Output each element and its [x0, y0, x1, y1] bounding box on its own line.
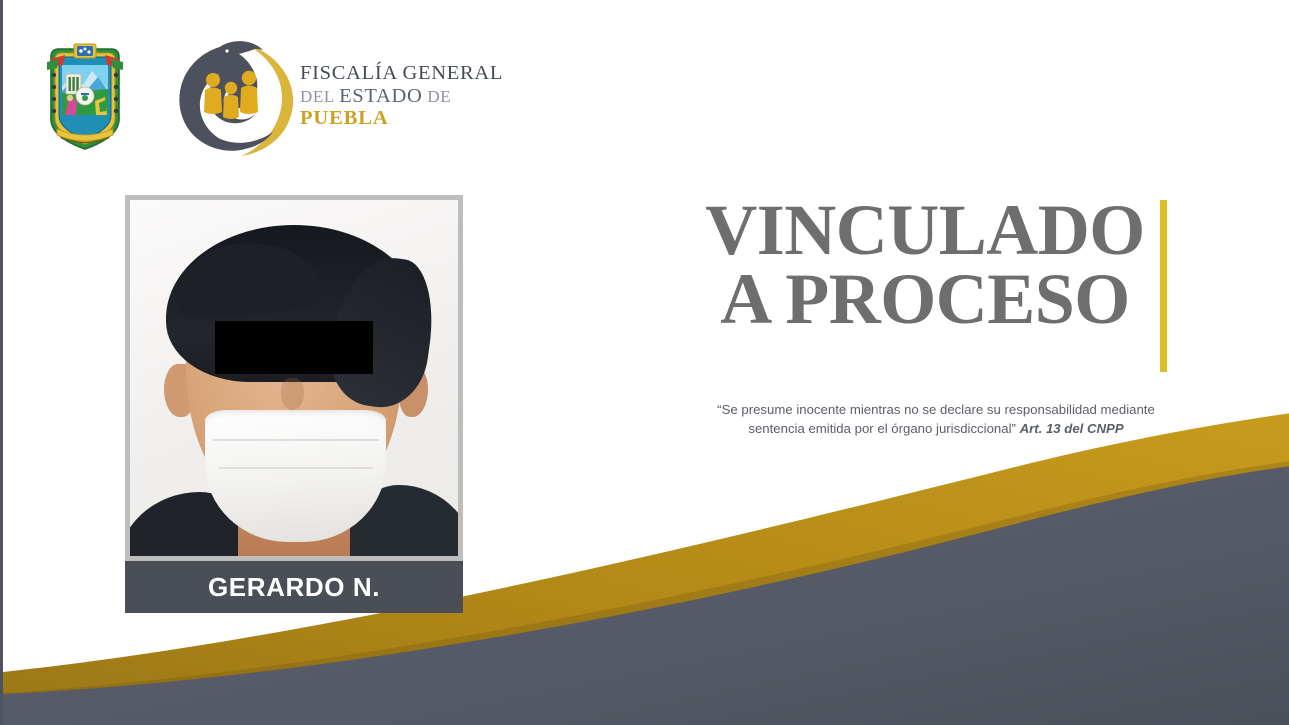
subject-name-label: GERARDO N. [208, 572, 380, 603]
headline-block: VINCULADO A PROCESO [693, 196, 1173, 334]
wordmark-de: DE [427, 87, 451, 106]
headline-line-1: VINCULADO [693, 196, 1157, 265]
subject-photo-frame [125, 195, 463, 561]
wordmark-line-2: DEL ESTADO DE [300, 86, 503, 107]
disclaimer-citation: Art. 13 del CNPP [1020, 421, 1124, 436]
puebla-coat-of-arms-icon [43, 41, 127, 155]
institution-wordmark: FISCALÍA GENERAL DEL ESTADO DE PUEBLA [300, 63, 503, 129]
wordmark-estado: ESTADO [339, 85, 422, 107]
subject-card: GERARDO N. [125, 195, 463, 613]
gold-accent-rule [1160, 200, 1167, 372]
wordmark-line-1: FISCALÍA GENERAL [300, 63, 503, 84]
page-title: VINCULADO A PROCESO [693, 196, 1173, 334]
photo-mask-fold-lower [219, 467, 373, 469]
wordmark-line-3: PUEBLA [300, 108, 503, 129]
photo-mask-fold-upper [212, 439, 379, 441]
fiscalia-eagle-logo-icon [165, 36, 297, 160]
subject-name-bar: GERARDO N. [125, 561, 463, 613]
legal-disclaimer: “Se presume inocente mientras no se decl… [693, 400, 1179, 438]
header-logos: FISCALÍA GENERAL DEL ESTADO DE PUEBLA [3, 0, 1289, 170]
press-release-card: FISCALÍA GENERAL DEL ESTADO DE PUEBLA [0, 0, 1289, 725]
subject-portrait-photo [130, 200, 458, 556]
photo-eye-censor-bar [215, 321, 372, 374]
photo-nose [281, 378, 304, 410]
wordmark-del: DEL [300, 87, 334, 106]
headline-line-2: A PROCESO [693, 265, 1157, 334]
